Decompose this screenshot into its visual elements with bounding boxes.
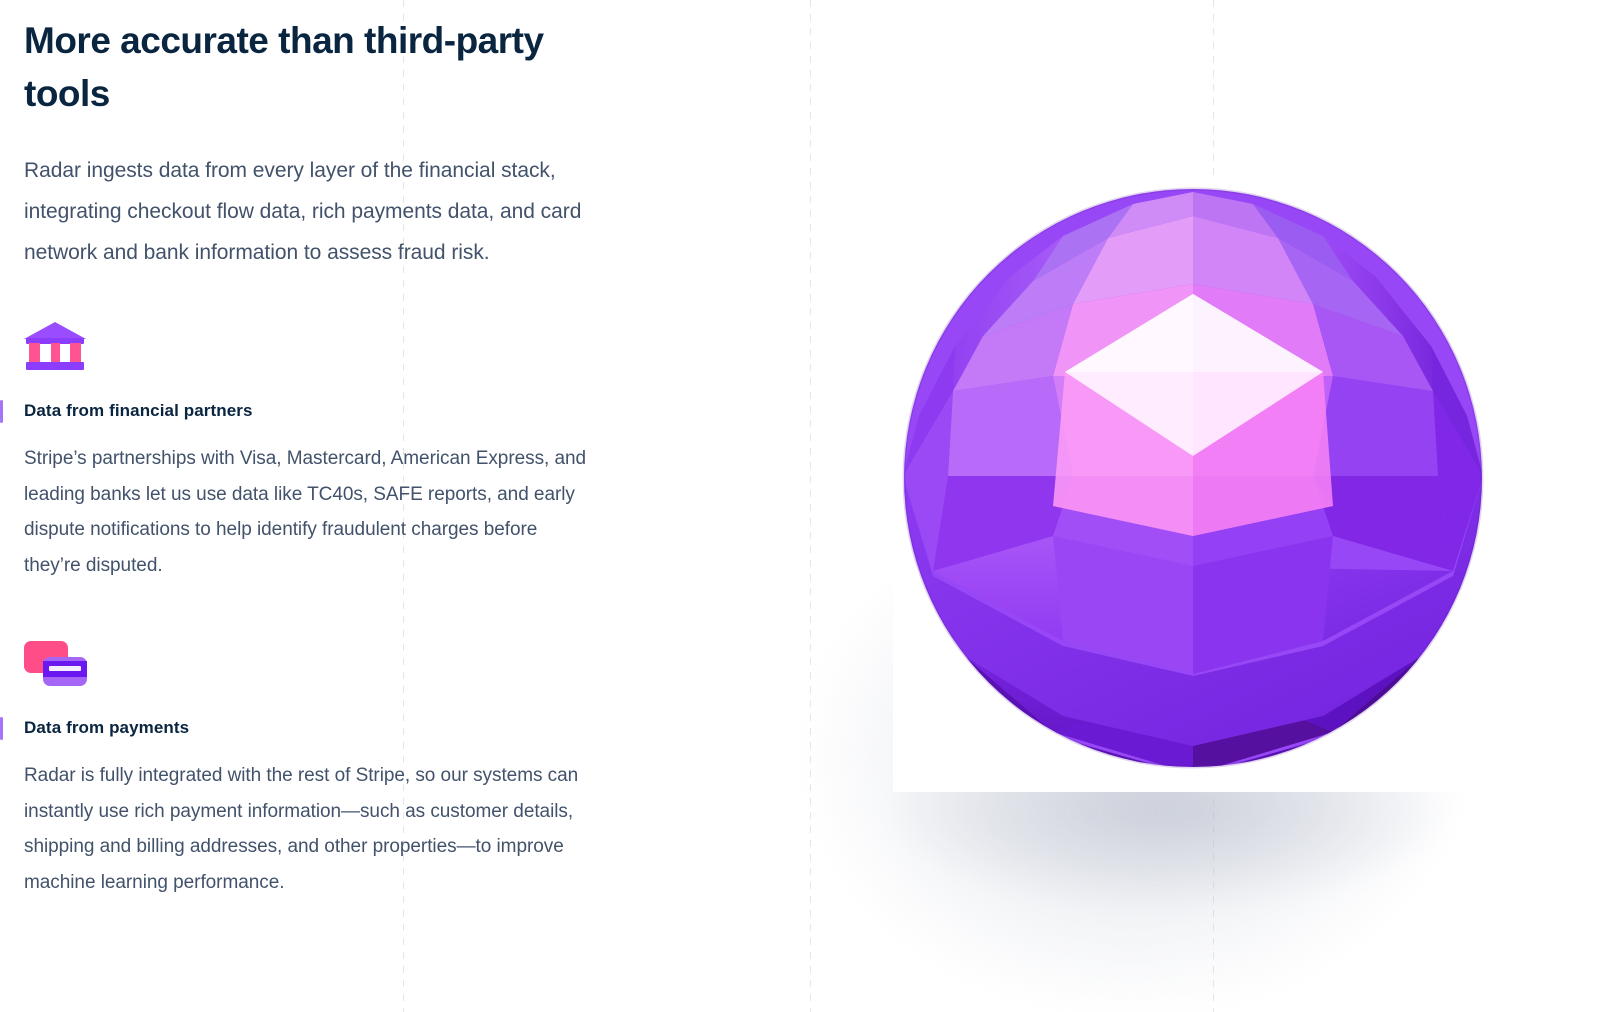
credit-cards-icon-signature-bar — [49, 666, 81, 671]
feature-heading: Data from payments — [24, 715, 660, 741]
feature-block-payments: Data from payments Radar is fully integr… — [24, 639, 660, 900]
bank-icon-columns — [31, 343, 79, 363]
bank-icon-roof — [24, 322, 86, 339]
intro-paragraph: Radar ingests data from every layer of t… — [24, 150, 639, 273]
low-poly-sphere-illustration — [893, 176, 1493, 792]
bank-icon-base — [26, 362, 84, 370]
page-root: More accurate than third-party tools Rad… — [0, 0, 1600, 1012]
layout-guide-line-2 — [810, 0, 811, 1012]
bank-icon — [24, 322, 86, 374]
feature-body: Stripe’s partnerships with Visa, Masterc… — [24, 441, 589, 583]
feature-heading-label: Data from payments — [24, 718, 189, 737]
text-column: More accurate than third-party tools Rad… — [0, 0, 660, 900]
feature-heading: Data from financial partners — [24, 398, 660, 424]
credit-cards-icon — [24, 639, 86, 691]
feature-heading-label: Data from financial partners — [24, 401, 253, 420]
heading-accent-marker — [0, 400, 3, 423]
feature-body: Radar is fully integrated with the rest … — [24, 758, 589, 900]
page-title: More accurate than third-party tools — [24, 14, 584, 120]
heading-accent-marker — [0, 717, 3, 740]
feature-block-financial-partners: Data from financial partners Stripe’s pa… — [24, 322, 660, 583]
